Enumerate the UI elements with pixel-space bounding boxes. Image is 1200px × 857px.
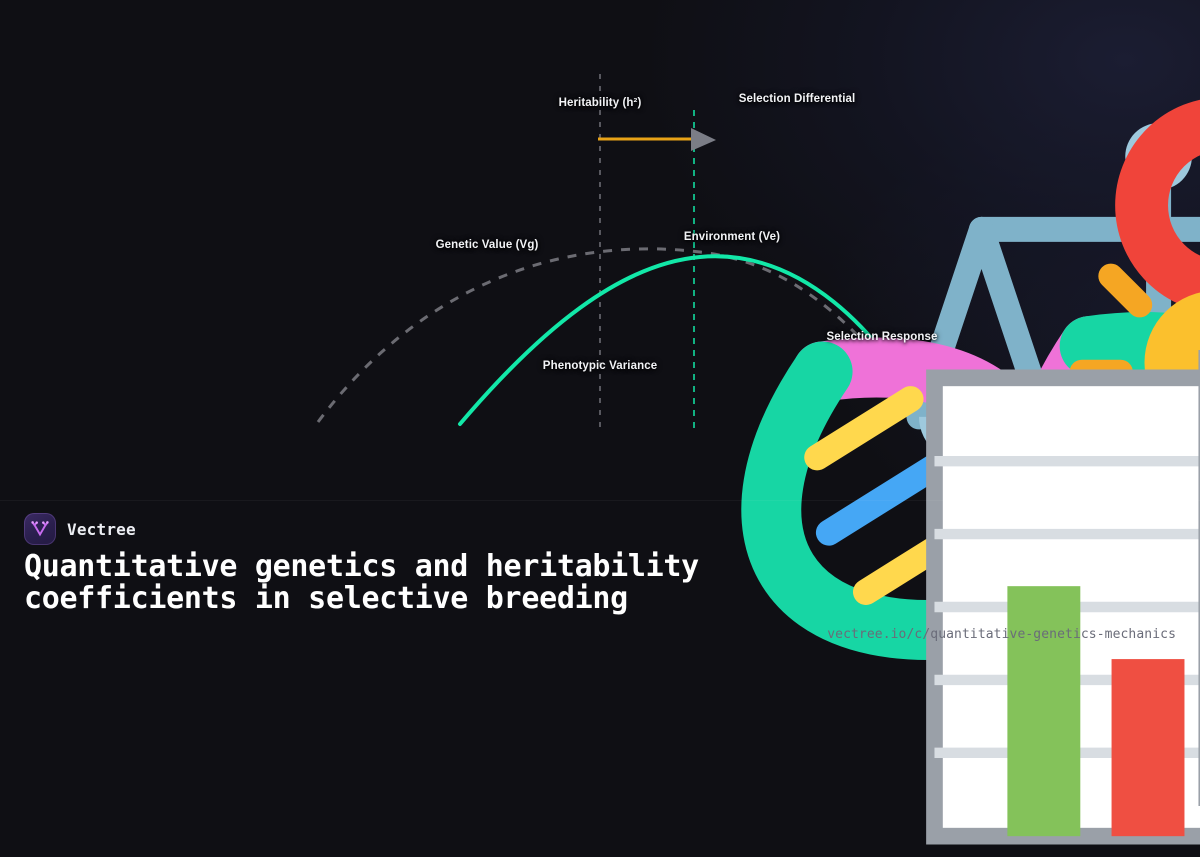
diagram-node-selection-differential[interactable]: Selection Differential <box>739 90 856 105</box>
diagram-node-environment[interactable]: Environment (Ve) <box>684 228 780 243</box>
footer: Vectree Quantitative genetics and herita… <box>0 500 1200 676</box>
diagram-node-phenotypic-variance[interactable]: Phenotypic Variance <box>543 357 657 372</box>
brand: Vectree <box>24 513 136 545</box>
canvas-root: Heritability (h²) Selection Differential <box>0 0 1200 675</box>
diagram-node-heritability[interactable]: Heritability (h²) <box>559 94 642 109</box>
page-title: Quantitative genetics and heritability c… <box>24 551 724 615</box>
brand-name: Vectree <box>67 520 136 539</box>
diagram-node-genetic-value[interactable]: Genetic Value (Vg) <box>436 236 539 251</box>
diagram-node-selection-response[interactable]: Selection Response <box>826 328 937 343</box>
concept-diagram: Heritability (h²) Selection Differential <box>0 0 1200 500</box>
source-url: vectree.io/c/quantitative-genetics-mecha… <box>827 627 1176 642</box>
vectree-logo-icon <box>24 513 56 545</box>
